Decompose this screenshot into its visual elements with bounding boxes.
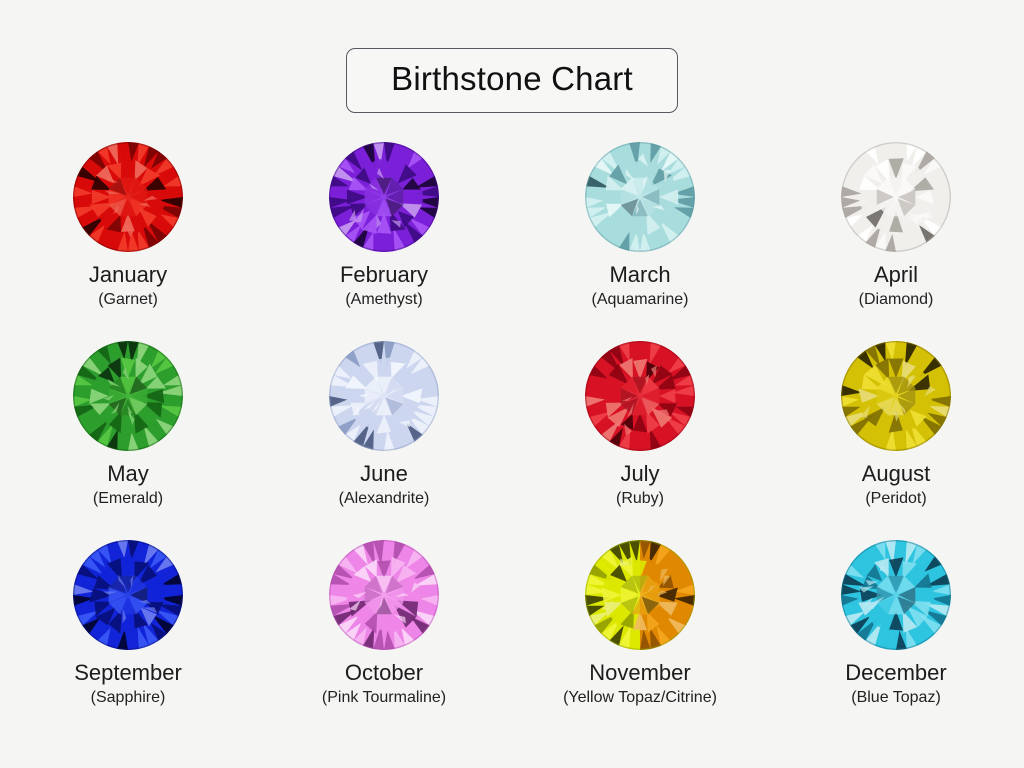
gem-round-brilliant-icon [73,540,183,650]
stone-label: (Sapphire) [91,689,166,708]
stone-label: (Alexandrite) [339,490,430,509]
month-label: November [589,660,690,686]
gem-round-brilliant-icon [329,540,439,650]
stone-label: (Ruby) [616,490,664,509]
page-title: Birthstone Chart [391,62,633,97]
month-label: February [340,262,428,288]
stone-label: (Diamond) [859,291,934,310]
title-box: Birthstone Chart [346,48,678,113]
stone-label: (Aquamarine) [592,291,689,310]
month-label: April [874,262,918,288]
gem-round-brilliant-icon [841,341,951,451]
gem-round-brilliant-icon [841,142,951,252]
gem-round-brilliant-icon [329,142,439,252]
gem-round-brilliant-icon [73,341,183,451]
gem-round-brilliant-split-icon [585,540,695,650]
stone-label: (Blue Topaz) [851,689,941,708]
month-label: January [89,262,167,288]
gem-round-brilliant-icon [585,142,695,252]
stone-label: (Emerald) [93,490,163,509]
month-label: May [107,461,149,487]
month-label: December [845,660,946,686]
gem-round-brilliant-icon [329,341,439,451]
month-label: March [609,262,670,288]
birthstone-cell: December(Blue Topaz) [768,540,1024,739]
month-label: July [620,461,659,487]
birthstone-cell: June(Alexandrite) [256,341,512,540]
gem-round-brilliant-icon [841,540,951,650]
month-label: October [345,660,423,686]
birthstone-cell: May(Emerald) [0,341,256,540]
birthstone-cell: January(Garnet) [0,142,256,341]
title-container: Birthstone Chart [0,48,1024,113]
stone-label: (Garnet) [98,291,158,310]
birthstone-cell: October(Pink Tourmaline) [256,540,512,739]
birthstone-grid: January(Garnet)February(Amethyst)March(A… [0,142,1024,739]
birthstone-cell: July(Ruby) [512,341,768,540]
birthstone-cell: March(Aquamarine) [512,142,768,341]
birthstone-cell: August(Peridot) [768,341,1024,540]
gem-round-brilliant-icon [73,142,183,252]
month-label: September [74,660,182,686]
stone-label: (Amethyst) [345,291,422,310]
stone-label: (Pink Tourmaline) [322,689,446,708]
stone-label: (Yellow Topaz/Citrine) [563,689,717,708]
month-label: August [862,461,931,487]
stone-label: (Peridot) [865,490,926,509]
month-label: June [360,461,408,487]
birthstone-cell: September(Sapphire) [0,540,256,739]
birthstone-cell: November(Yellow Topaz/Citrine) [512,540,768,739]
birthstone-cell: February(Amethyst) [256,142,512,341]
birthstone-cell: April(Diamond) [768,142,1024,341]
gem-round-brilliant-icon [585,341,695,451]
